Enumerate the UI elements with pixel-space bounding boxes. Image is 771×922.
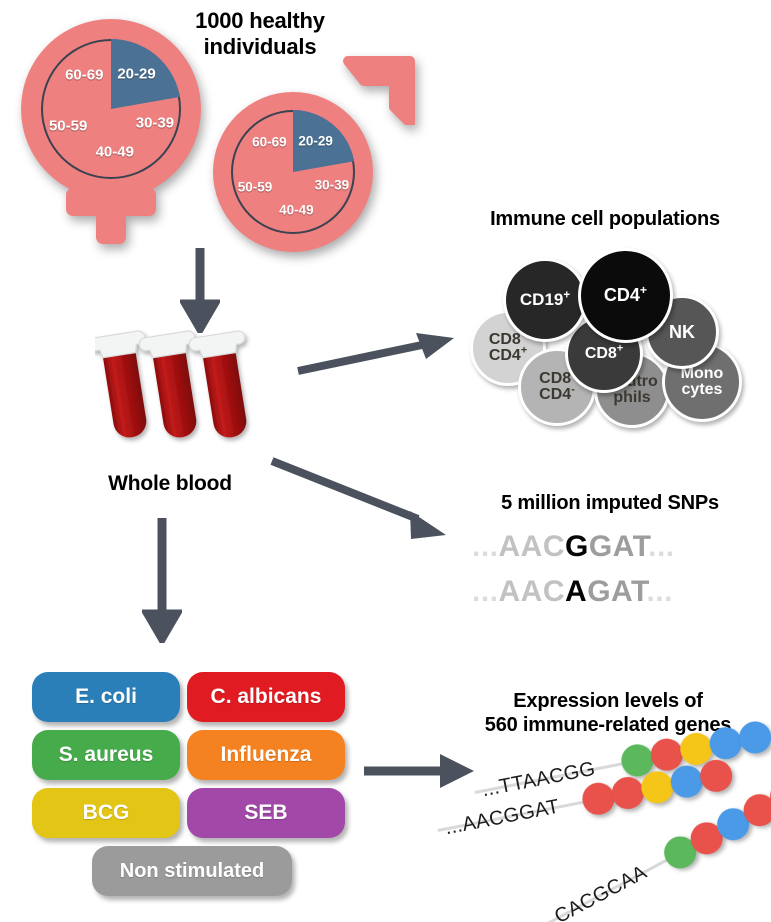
snp-suffix-ellipsis: ... [646,575,673,608]
pie-slice-label: 40-49 [279,203,314,218]
snp-left-bases: AAC [499,530,566,563]
stimulation-label: C. albicans [211,685,322,709]
snps-title: 5 million imputed SNPs [460,492,760,516]
pie-slice-label: 50-59 [49,118,87,135]
pie-slice-label: 30-39 [136,115,174,132]
figure-canvas: 1000 healthy individuals 20-2930-3940-49… [0,0,771,922]
female-symbol: 20-2930-3940-4950-5960-69 [10,10,210,240]
snp-sequences: ...AACGGAT......AACAGAT... [472,530,752,620]
pie-slice-label: 60-69 [65,66,103,83]
arrow-blood-to-cells [296,325,461,380]
immune-cell-label: Monocytes [681,366,724,399]
pie-slice-label: 20-29 [117,65,155,82]
pie-slice-label: 40-49 [96,144,134,161]
immune-cell-label: CD8+ [585,346,623,362]
stimulation-label: E. coli [75,685,137,709]
gene-bead [736,719,771,757]
gene-bead [639,769,677,807]
gene-bead [668,763,706,801]
snp-suffix-ellipsis: ... [648,530,675,563]
snp-prefix-ellipsis: ... [472,530,499,563]
arrow-cohort-to-blood [180,248,220,333]
stimulation-label: Influenza [220,743,311,767]
immune-cell-label: Neutrophils [606,374,658,407]
strand-sequence: ...AACGGAT [443,796,561,841]
expression-title-line1: Expression levels of [448,690,768,714]
immune-cell-nk: NK [645,295,719,369]
male-age-pie: 20-2930-3940-4950-5960-69 [231,110,355,234]
stimulation-box-bcg[interactable]: BCG [32,788,180,838]
snp-variant-base: A [565,575,587,608]
stimulation-label: SEB [244,801,287,825]
immune-cell-cd8-cd4: CD8-CD4- [518,348,596,426]
snp-variant-base: G [565,530,589,563]
whole-blood-label: Whole blood [85,472,255,497]
immune-cell-label: CD8+CD4+ [489,332,527,365]
pie-slice-label: 60-69 [252,134,287,149]
arrow-blood-to-stims [142,518,182,643]
immune-cell-label: CD19+ [520,291,570,308]
expression-strands: ...TTAACGG...AACGGAT...CACGCAA [430,735,771,915]
immune-cell-neutrophils: Neutrophils [594,352,670,428]
immune-cell-cd8-cd4: CD8+CD4+ [470,310,546,386]
blood-tubes-group [95,328,265,448]
stimulation-box-non-stimulated[interactable]: Non stimulated [92,846,292,896]
snp-right-bases: GAT [587,575,646,608]
immune-cell-cd4: CD4+ [578,248,673,343]
snp-prefix-ellipsis: ... [472,575,499,608]
male-symbol: 20-2930-3940-4950-5960-69 [205,40,435,250]
female-age-pie: 20-2930-3940-4950-5960-69 [41,39,181,179]
immune-title: Immune cell populations [440,208,770,232]
arrow-blood-to-snps [268,455,458,550]
stimulation-box-s-aureus[interactable]: S. aureus [32,730,180,780]
pie-slice-label: 50-59 [238,180,273,195]
stimulation-box-seb[interactable]: SEB [187,788,345,838]
gene-bead [580,780,618,818]
immune-cell-cd8: CD8+ [565,315,643,393]
immune-cell-label: CD8-CD4- [539,371,575,404]
pie-slice-label: 20-29 [298,133,333,148]
stimulation-box-influenza[interactable]: Influenza [187,730,345,780]
stimulation-grid: E. coliC. albicansS. aureusInfluenzaBCGS… [32,672,352,892]
pie-slice-label: 30-39 [315,177,350,192]
gene-bead [609,774,647,812]
snp-right-bases: GAT [589,530,648,563]
snp-sequence-row: ...AACGGAT... [472,530,675,564]
immune-cell-cd19: CD19+ [503,258,587,342]
blood-tubes-svg [95,328,265,453]
stimulation-label: BCG [83,801,130,825]
immune-cell-label: CD4+ [604,286,647,304]
stimulation-label: S. aureus [59,743,154,767]
strand-sequence: ...CACGCAA [535,861,650,922]
snp-left-bases: AAC [499,575,566,608]
stimulation-label: Non stimulated [120,860,264,883]
immune-cell-label: NK [669,323,695,341]
stimulation-box-e-coli[interactable]: E. coli [32,672,180,722]
snp-sequence-row: ...AACAGAT... [472,575,673,609]
stimulation-box-c-albicans[interactable]: C. albicans [187,672,345,722]
immune-cell-monocytes: Monocytes [662,342,742,422]
gene-bead [697,757,735,795]
